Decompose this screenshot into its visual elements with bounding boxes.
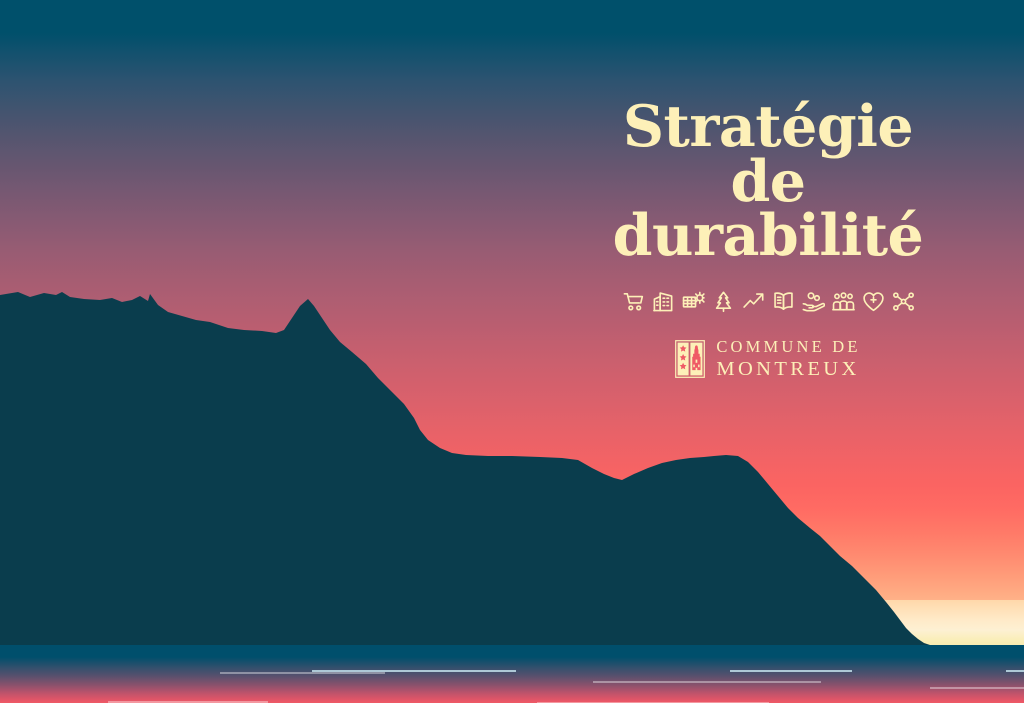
network-nodes-icon (892, 290, 915, 313)
page-title: Stratégie de durabilité (586, 100, 950, 264)
water-reflection-line (593, 681, 821, 683)
water-reflection-line (930, 687, 1024, 689)
shopping-cart-icon (622, 290, 645, 313)
title-line-3: durabilité (586, 209, 950, 264)
growth-arrow-icon (742, 290, 765, 313)
heart-plus-icon (862, 290, 885, 313)
solar-panel-icon (682, 290, 705, 313)
building-icon (652, 290, 675, 313)
commune-logo: COMMUNE DE MONTREUX (586, 336, 950, 381)
commune-logo-line-1: COMMUNE DE (716, 336, 860, 357)
people-group-icon (832, 290, 855, 313)
poster-cover: Stratégie de durabilité (0, 0, 1024, 703)
title-line-2: de (586, 155, 950, 210)
lake-gradient (0, 645, 1024, 703)
commune-logo-line-2: MONTREUX (716, 357, 860, 381)
pine-tree-icon (712, 290, 735, 313)
montreux-crest-icon (675, 340, 705, 378)
cover-content: Stratégie de durabilité (586, 100, 950, 381)
theme-icon-row (586, 290, 950, 313)
water-reflection-line (730, 670, 852, 672)
water-reflection-line (220, 672, 385, 674)
title-line-1: Stratégie (586, 100, 950, 155)
commune-logo-text: COMMUNE DE MONTREUX (716, 336, 860, 381)
open-book-icon (772, 290, 795, 313)
hand-coins-icon (802, 290, 825, 313)
water-reflection-line (1006, 670, 1024, 672)
lake-water (0, 645, 1024, 703)
